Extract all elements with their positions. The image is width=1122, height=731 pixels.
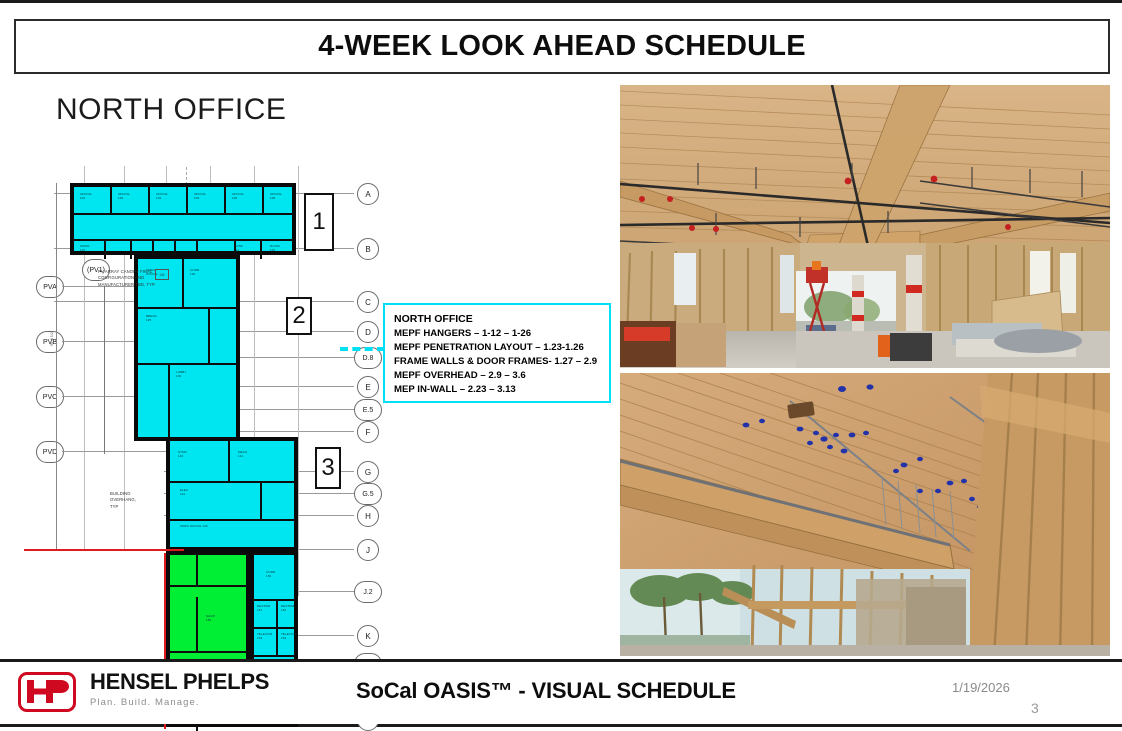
brand-tagline: Plan. Build. Manage. — [90, 697, 269, 708]
dimension-line-left — [56, 183, 57, 551]
callout-line-1: MEPF HANGERS – 1-12 – 1-26 — [394, 327, 609, 341]
grid-bubble-b: B — [357, 238, 379, 260]
footer-date: 1/19/2026 — [952, 680, 1010, 695]
zone-tag-3: 3 — [315, 447, 341, 489]
grid-bubble-g: G — [357, 461, 379, 483]
brand-name: HENSEL PHELPS — [90, 671, 269, 693]
callout-line-3: FRAME WALLS & DOOR FRAMES- 1.27 – 2.9 — [394, 355, 609, 369]
grid-bubble-pvc: PVC — [36, 386, 64, 408]
grid-bubble-pva: PVA — [36, 276, 64, 298]
slide-root: 4-WEEK LOOK AHEAD SCHEDULE NORTH OFFICE — [0, 0, 1122, 727]
vgridline-6 — [298, 166, 299, 596]
grid-bubble-g5: G.5 — [354, 483, 382, 505]
grid-bubble-k: K — [357, 625, 379, 647]
slide-title-box: 4-WEEK LOOK AHEAD SCHEDULE — [14, 19, 1110, 74]
page-title: 4-WEEK LOOK AHEAD SCHEDULE — [318, 30, 805, 63]
photo-timber-ceiling-penetration-layout — [620, 373, 1110, 656]
gridline-pvd — [62, 451, 172, 452]
grid-bubble-d: D — [357, 321, 379, 343]
grid-bubble-e: E — [357, 376, 379, 398]
callout-line-2: MEPF PENETRATION LAYOUT – 1.23-1.26 — [394, 341, 609, 355]
callout-line-4: MEPF OVERHEAD – 2.9 – 3.6 — [394, 369, 609, 383]
grid-bubble-j2: J.2 — [354, 581, 382, 603]
grid-bubble-j: J — [357, 539, 379, 561]
zone-1-block: OFFICE101 OFFICE102 OFFICE103 OFFICE104 … — [70, 183, 296, 255]
callout-leader-line — [340, 347, 385, 351]
dimension-text-left: 90'-8 1/2" — [50, 331, 54, 346]
pv-vertical-axis — [104, 286, 105, 454]
callout-header: NORTH OFFICE — [394, 312, 609, 327]
grid-bubble-c: C — [357, 291, 379, 313]
grid-bubble-f: F — [357, 421, 379, 443]
zone-tag-1: 1 — [304, 193, 334, 251]
plan-heading: NORTH OFFICE — [56, 93, 286, 127]
grid-bubble-e5: E.5 — [354, 399, 382, 421]
callout-line-5: MEP IN-WALL – 2.23 – 3.13 — [394, 383, 609, 397]
zone-3-block: STOR140 MECH141 ELEC142 OPEN OFFICE 145 — [166, 437, 298, 551]
hp-monogram-icon — [27, 680, 69, 703]
photo-mass-timber-ceiling-overhead-mep — [620, 85, 1110, 368]
grid-bubble-h: H — [357, 505, 379, 527]
slide-footer: HENSEL PHELPS Plan. Build. Manage. SoCal… — [0, 659, 1122, 724]
brand-block: HENSEL PHELPS Plan. Build. Manage. — [90, 671, 269, 708]
hensel-phelps-logo-mark — [18, 672, 76, 712]
zone-tag-2: 2 — [286, 297, 312, 335]
grid-bubble-a: A — [357, 183, 379, 205]
footer-project-title: SoCal OASIS™ - VISUAL SCHEDULE — [356, 678, 736, 704]
note-building-overhang: BUILDINGOVERHANG,TYP — [110, 491, 150, 510]
callout-box-north-office: NORTH OFFICE MEPF HANGERS – 1-12 – 1-26 … — [383, 303, 611, 403]
grid-bubble-pvd: PVD — [36, 441, 64, 463]
property-line-red-h — [24, 549, 184, 551]
footer-page-number: 3 — [1031, 700, 1039, 716]
detail-tag: 2A — [155, 269, 169, 280]
